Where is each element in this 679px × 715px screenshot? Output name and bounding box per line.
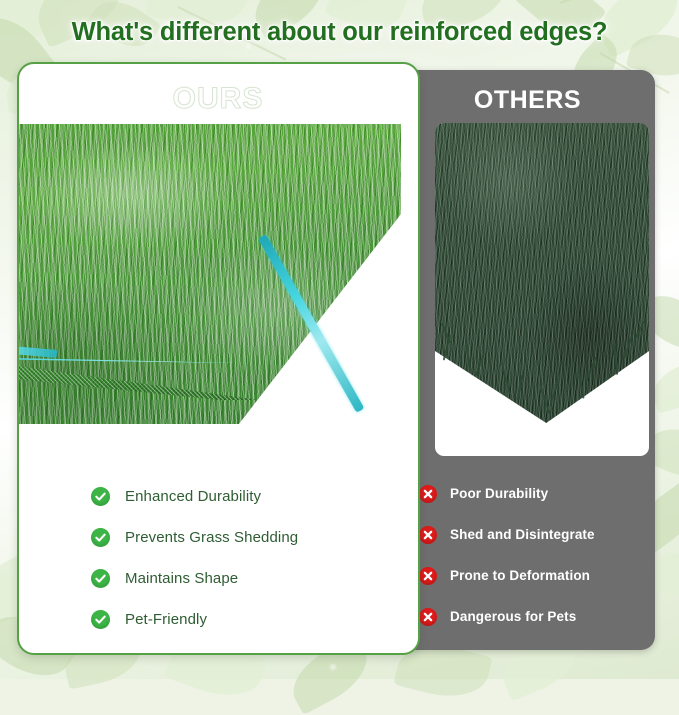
list-item-label: Shed and Disintegrate xyxy=(450,527,595,542)
cross-circle-icon xyxy=(419,567,437,585)
list-item-label: Prone to Deformation xyxy=(450,568,590,583)
others-product-photo xyxy=(435,123,649,456)
list-item: Prevents Grass Shedding xyxy=(91,517,420,558)
ours-feature-list: Enhanced Durability Prevents Grass Shedd… xyxy=(91,476,420,640)
list-item: Shed and Disintegrate xyxy=(410,514,655,555)
list-item: Poor Durability xyxy=(410,473,655,514)
ours-product-photo xyxy=(19,120,417,468)
others-panel: OTHERS Poor Durability xyxy=(400,70,655,650)
list-item-label: Prevents Grass Shedding xyxy=(125,529,298,546)
list-item: Pet-Friendly xyxy=(91,599,420,640)
ours-panel: OURS Enhanced Durability Prevents Grass … xyxy=(17,62,420,655)
ours-heading: OURS xyxy=(19,82,417,116)
list-item-label: Maintains Shape xyxy=(125,570,238,587)
list-item: Maintains Shape xyxy=(91,558,420,599)
list-item-label: Dangerous for Pets xyxy=(450,609,576,624)
check-circle-icon xyxy=(91,528,110,547)
check-circle-icon xyxy=(91,487,110,506)
list-item: Dangerous for Pets xyxy=(410,596,655,637)
cross-circle-icon xyxy=(419,526,437,544)
page-title: What's different about our reinforced ed… xyxy=(0,8,679,56)
check-circle-icon xyxy=(91,569,110,588)
list-item-label: Pet-Friendly xyxy=(125,611,207,628)
list-item-label: Enhanced Durability xyxy=(125,488,261,505)
others-feature-list: Poor Durability Shed and Disintegrate Pr… xyxy=(410,473,655,637)
check-circle-icon xyxy=(91,610,110,629)
cross-circle-icon xyxy=(419,608,437,626)
frayed-grass-slab xyxy=(435,123,649,423)
cross-circle-icon xyxy=(419,485,437,503)
list-item: Enhanced Durability xyxy=(91,476,420,517)
list-item-label: Poor Durability xyxy=(450,486,548,501)
others-heading: OTHERS xyxy=(400,86,655,115)
list-item: Prone to Deformation xyxy=(410,555,655,596)
bokeh-dot xyxy=(330,664,336,670)
